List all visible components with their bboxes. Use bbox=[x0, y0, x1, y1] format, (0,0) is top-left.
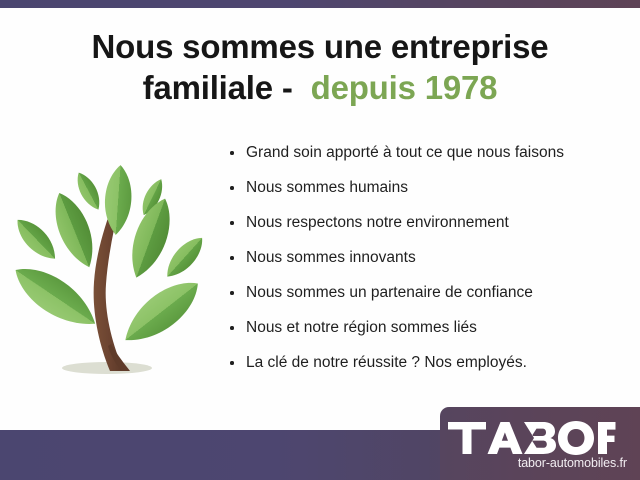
list-item: La clé de notre réussite ? Nos employés. bbox=[228, 354, 628, 372]
bullet-dot-icon bbox=[230, 326, 234, 330]
heading-accent-depuis: depuis 1978 bbox=[311, 69, 498, 106]
list-item-label: Grand soin apporté à tout ce que nous fa… bbox=[246, 144, 564, 161]
bullet-dot-icon bbox=[230, 151, 234, 155]
bullet-dot-icon bbox=[230, 291, 234, 295]
leaf-mid-far-left bbox=[12, 213, 63, 266]
heading-line-1: Nous sommes une entreprise bbox=[92, 28, 549, 65]
bullet-dot-icon bbox=[230, 221, 234, 225]
tabor-wordmark-icon bbox=[448, 421, 616, 455]
page-title: Nous sommes une entreprise familiale - d… bbox=[0, 26, 640, 108]
tabor-logo[interactable]: tabor-automobiles.fr bbox=[448, 421, 628, 470]
heading-familiale: familiale bbox=[143, 69, 273, 106]
list-item-label: Nous respectons notre environnement bbox=[246, 214, 509, 231]
slide-canvas: Nous sommes une entreprise familiale - d… bbox=[0, 0, 640, 480]
bullet-dot-icon bbox=[230, 256, 234, 260]
list-item: Nous sommes humains bbox=[228, 179, 628, 197]
list-item-label: La clé de notre réussite ? Nos employés. bbox=[246, 354, 527, 371]
footer-band-left bbox=[0, 430, 452, 480]
bullet-dot-icon bbox=[230, 186, 234, 190]
bullet-dot-icon bbox=[230, 361, 234, 365]
list-item: Grand soin apporté à tout ce que nous fa… bbox=[228, 144, 628, 162]
list-item-label: Nous et notre région sommes liés bbox=[246, 319, 477, 336]
heading-dash: - bbox=[273, 69, 311, 106]
tree-illustration bbox=[12, 150, 212, 385]
heading-line-2: familiale - depuis 1978 bbox=[0, 67, 640, 108]
footer-banner: tabor-automobiles.fr bbox=[0, 400, 640, 480]
list-item: Nous et notre région sommes liés bbox=[228, 319, 628, 337]
leaf-mid-far-right bbox=[160, 231, 209, 283]
value-proposition-list: Grand soin apporté à tout ce que nous fa… bbox=[228, 144, 628, 389]
top-accent-bar bbox=[0, 0, 640, 8]
list-item-label: Nous sommes innovants bbox=[246, 249, 416, 266]
leaf-lower-left bbox=[12, 256, 105, 338]
list-item: Nous sommes innovants bbox=[228, 249, 628, 267]
list-item: Nous respectons notre environnement bbox=[228, 214, 628, 232]
tabor-website-label: tabor-automobiles.fr bbox=[448, 456, 627, 470]
list-item-label: Nous sommes un partenaire de confiance bbox=[246, 284, 533, 301]
tree-shadow bbox=[62, 362, 152, 374]
list-item-label: Nous sommes humains bbox=[246, 179, 408, 196]
list-item: Nous sommes un partenaire de confiance bbox=[228, 284, 628, 302]
leaf-lower-right bbox=[115, 270, 208, 353]
